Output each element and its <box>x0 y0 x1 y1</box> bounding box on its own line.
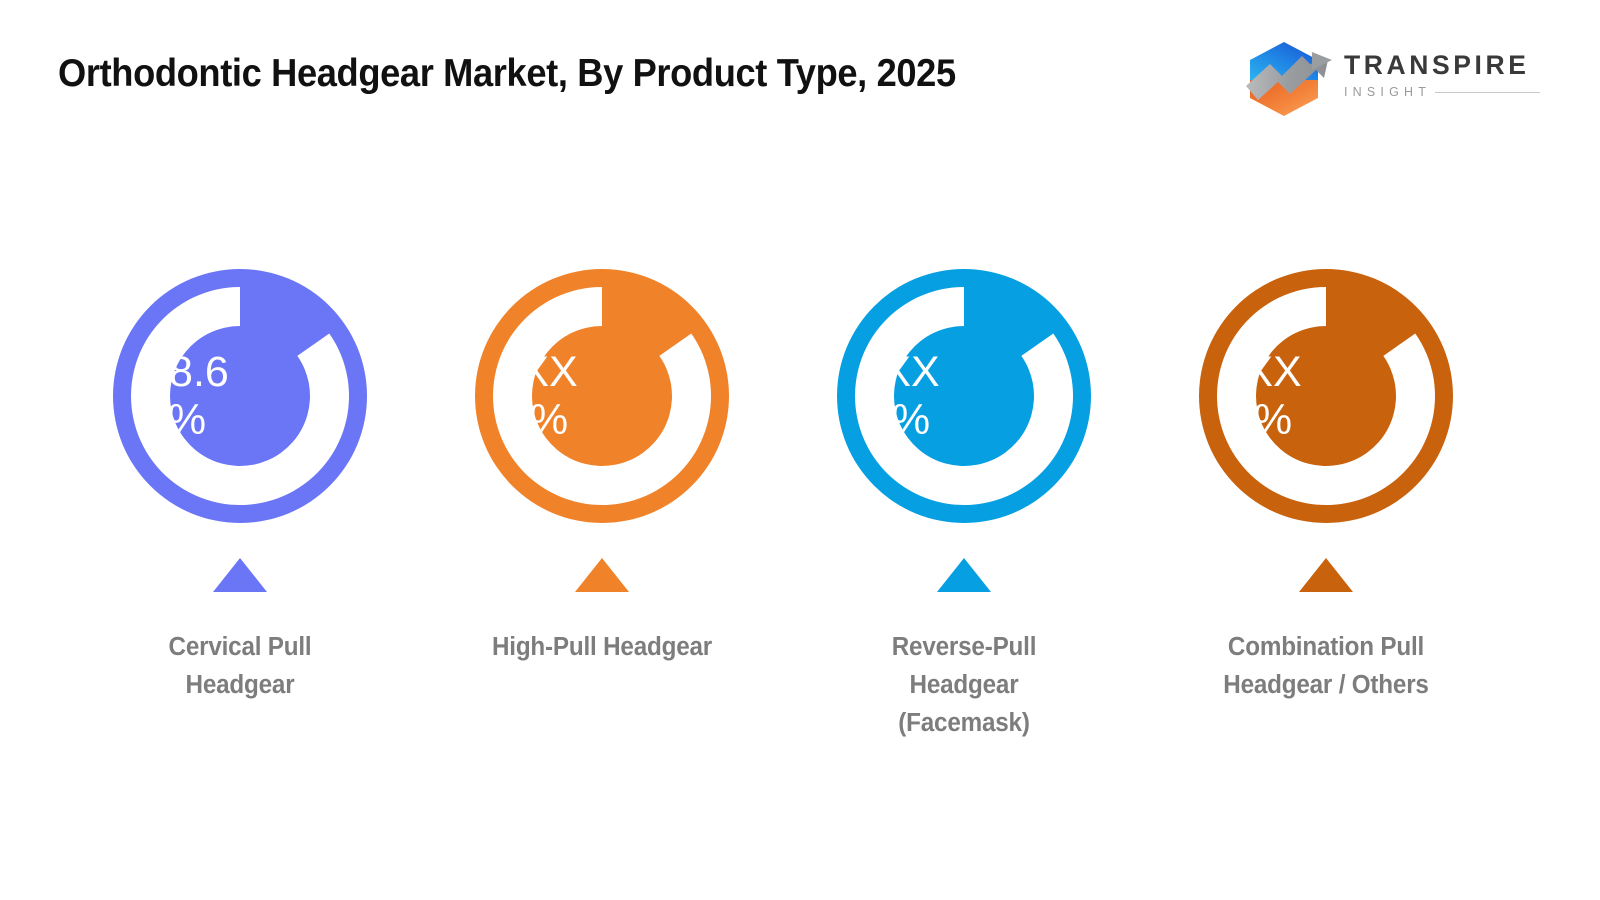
brand-rule <box>1435 92 1540 93</box>
segment-label-line: Headgear <box>812 666 1116 704</box>
pointer-triangle-2 <box>575 558 629 592</box>
segment-label-line: (Facemask) <box>812 704 1116 742</box>
brand-tagline: INSIGHT <box>1344 85 1431 99</box>
segment-cervical-pull-headgear: 38.6 % Cervical Pull Headgear <box>59 268 421 704</box>
pointer-triangle-1 <box>213 558 267 592</box>
segment-reverse-pull-headgear: XX % Reverse-Pull Headgear (Facemask) <box>783 268 1145 742</box>
segment-label-2: High-Pull Headgear <box>450 628 754 666</box>
segment-label-4: Combination Pull Headgear / Others <box>1174 628 1478 704</box>
segment-high-pull-headgear: XX % High-Pull Headgear <box>421 268 783 666</box>
segment-label-line: Reverse-Pull <box>812 628 1116 666</box>
donut-chart-2 <box>474 268 730 524</box>
hexagon-arrow-icon <box>1240 38 1332 120</box>
header: Orthodontic Headgear Market, By Product … <box>0 0 1600 140</box>
page-title: Orthodontic Headgear Market, By Product … <box>58 52 956 96</box>
segment-label-line: Combination Pull <box>1174 628 1478 666</box>
segment-label-line: Headgear / Others <box>1174 666 1478 704</box>
brand-wordmark: TRANSPIRE INSIGHT <box>1344 50 1540 99</box>
pointer-triangle-3 <box>937 558 991 592</box>
segment-label-3: Reverse-Pull Headgear (Facemask) <box>812 628 1116 742</box>
donut-chart-row: 38.6 % Cervical Pull Headgear XX % <box>0 268 1600 828</box>
pointer-triangle-4 <box>1299 558 1353 592</box>
donut-chart-1 <box>112 268 368 524</box>
brand-tagline-row: INSIGHT <box>1344 85 1540 99</box>
segment-combination-pull-headgear: XX % Combination Pull Headgear / Others <box>1145 268 1507 704</box>
segment-label-1: Cervical Pull Headgear <box>88 628 392 704</box>
segment-label-line: Headgear <box>88 666 392 704</box>
segment-label-line: Cervical Pull <box>88 628 392 666</box>
segment-label-line: High-Pull Headgear <box>450 628 754 666</box>
donut-chart-4 <box>1198 268 1454 524</box>
brand-name: TRANSPIRE <box>1344 50 1540 80</box>
infographic-canvas: Orthodontic Headgear Market, By Product … <box>0 0 1600 900</box>
donut-chart-3 <box>836 268 1092 524</box>
brand-logo: TRANSPIRE INSIGHT <box>1240 38 1540 120</box>
